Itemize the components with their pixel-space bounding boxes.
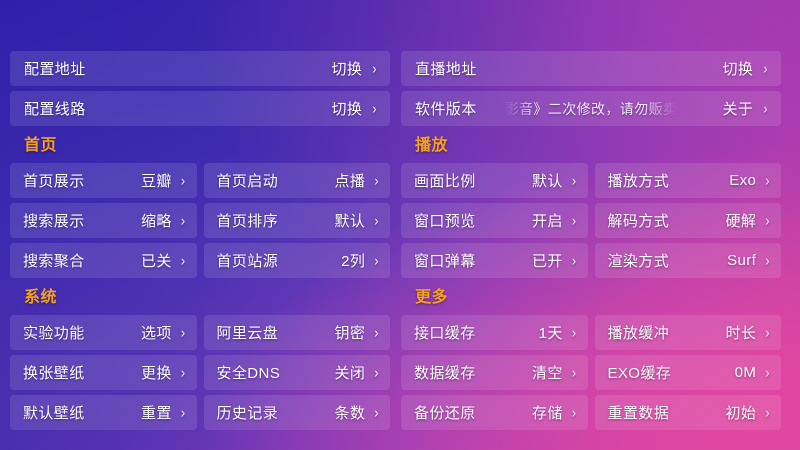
row-home-source[interactable]: 首页站源 2列 › [204,243,391,278]
row-value: 选项 [141,322,172,343]
row-label: 数据缓存 [414,362,476,383]
row-backup-restore[interactable]: 备份还原 存储 › [401,395,588,430]
row-label: 配置线路 [24,98,86,119]
right-column: 直播地址 切换 › 软件版本 影音》二次修改，请勿贩卖 关于 › 播放 画面比例… [401,51,781,430]
row-software-version[interactable]: 软件版本 影音》二次修改，请勿贩卖 关于 › [401,91,781,126]
row-label: 重置数据 [608,402,670,423]
row-reset-data[interactable]: 重置数据 初始 › [595,395,782,430]
row-label: 首页展示 [23,170,85,191]
row-experimental-features[interactable]: 实验功能 选项 › [10,315,197,350]
chevron-right-icon: › [763,101,768,116]
chevron-right-icon: › [572,253,577,268]
chevron-right-icon: › [765,213,770,228]
chevron-right-icon: › [181,213,186,228]
row-value: 0M [735,364,757,381]
row-value: 初始 [725,402,756,423]
row-value: 开启 [532,210,563,231]
row-value: 时长 [725,322,756,343]
row-label: 首页排序 [217,210,279,231]
chevron-right-icon: › [374,365,379,380]
row-label: 配置地址 [24,58,86,79]
chevron-right-icon: › [765,325,770,340]
row-label: 画面比例 [414,170,476,191]
chevron-right-icon: › [572,325,577,340]
row-value: 已关 [141,250,172,271]
row-home-sort[interactable]: 首页排序 默认 › [204,203,391,238]
row-label: 搜索聚合 [23,250,85,271]
row-aspect-ratio[interactable]: 画面比例 默认 › [401,163,588,198]
row-value: 条数 [334,402,365,423]
chevron-right-icon: › [765,173,770,188]
row-play-buffer[interactable]: 播放缓冲 时长 › [595,315,782,350]
row-change-wallpaper[interactable]: 换张壁纸 更换 › [10,355,197,390]
home-settings-grid: 首页展示 豆瓣 › 首页启动 点播 › 搜索展示 缩略 › [10,163,390,278]
row-player-type[interactable]: 播放方式 Exo › [595,163,782,198]
version-marquee-text: 影音》二次修改，请勿贩卖 [505,99,678,119]
chevron-right-icon: › [372,101,377,116]
row-label: 播放方式 [608,170,670,191]
row-label: 阿里云盘 [217,322,279,343]
row-value: 切换 [331,58,362,79]
left-column: 配置地址 切换 › 配置线路 切换 › 首页 首页展示 豆瓣 › [10,51,390,430]
row-label: 首页站源 [217,250,279,271]
row-label: 窗口弹幕 [414,250,476,271]
row-label: 备份还原 [414,402,476,423]
row-home-display[interactable]: 首页展示 豆瓣 › [10,163,197,198]
row-label: 实验功能 [23,322,85,343]
row-config-route[interactable]: 配置线路 切换 › [10,91,390,126]
row-label: 换张壁纸 [23,362,85,383]
row-search-aggregation[interactable]: 搜索聚合 已关 › [10,243,197,278]
row-label: 播放缓冲 [608,322,670,343]
row-label: 渲染方式 [608,250,670,271]
row-search-display[interactable]: 搜索展示 缩略 › [10,203,197,238]
row-history-records[interactable]: 历史记录 条数 › [204,395,391,430]
row-value: 豆瓣 [141,170,172,191]
chevron-right-icon: › [374,405,379,420]
section-header-playback: 播放 [401,131,781,158]
settings-columns: 配置地址 切换 › 配置线路 切换 › 首页 首页展示 豆瓣 › [10,0,790,430]
row-aliyun-drive[interactable]: 阿里云盘 钥密 › [204,315,391,350]
chevron-right-icon: › [181,365,186,380]
row-label: 搜索展示 [23,210,85,231]
row-value: 切换 [722,58,753,79]
row-data-cache[interactable]: 数据缓存 清空 › [401,355,588,390]
chevron-right-icon: › [765,405,770,420]
row-label: EXO缓存 [608,362,672,383]
row-window-danmaku[interactable]: 窗口弹幕 已开 › [401,243,588,278]
row-secure-dns[interactable]: 安全DNS 关闭 › [204,355,391,390]
row-value: 硬解 [725,210,756,231]
row-value: 默认 [334,210,365,231]
section-header-more: 更多 [401,283,781,310]
row-value: 默认 [532,170,563,191]
chevron-right-icon: › [572,213,577,228]
row-value: 切换 [331,98,362,119]
chevron-right-icon: › [572,173,577,188]
row-value: 更换 [141,362,172,383]
row-value: 重置 [141,402,172,423]
row-label: 历史记录 [217,402,279,423]
row-value: 清空 [532,362,563,383]
row-label: 窗口预览 [414,210,476,231]
chevron-right-icon: › [374,325,379,340]
row-label: 接口缓存 [414,322,476,343]
section-header-home: 首页 [10,131,390,158]
row-value: 关于 [722,98,753,119]
more-settings-grid: 接口缓存 1天 › 播放缓冲 时长 › 数据缓存 清空 › [401,315,781,430]
system-settings-grid: 实验功能 选项 › 阿里云盘 钥密 › 换张壁纸 更换 › [10,315,390,430]
row-label: 首页启动 [217,170,279,191]
row-label: 安全DNS [217,362,281,383]
row-render-mode[interactable]: 渲染方式 Surf › [595,243,782,278]
playback-settings-grid: 画面比例 默认 › 播放方式 Exo › 窗口预览 开启 › [401,163,781,278]
chevron-right-icon: › [572,405,577,420]
chevron-right-icon: › [765,365,770,380]
chevron-right-icon: › [374,253,379,268]
chevron-right-icon: › [763,61,768,76]
chevron-right-icon: › [181,253,186,268]
chevron-right-icon: › [181,325,186,340]
row-value: 钥密 [334,322,365,343]
row-live-address[interactable]: 直播地址 切换 › [401,51,781,86]
row-value: 点播 [334,170,365,191]
row-label: 默认壁纸 [23,402,85,423]
row-config-address[interactable]: 配置地址 切换 › [10,51,390,86]
chevron-right-icon: › [372,61,377,76]
chevron-right-icon: › [374,213,379,228]
row-value: 缩略 [141,210,172,231]
settings-page: 配置地址 切换 › 配置线路 切换 › 首页 首页展示 豆瓣 › [0,0,800,450]
row-value: 已开 [532,250,563,271]
row-decode-mode[interactable]: 解码方式 硬解 › [595,203,782,238]
row-exo-cache[interactable]: EXO缓存 0M › [595,355,782,390]
row-value: 关闭 [334,362,365,383]
row-value: 1天 [539,322,563,343]
chevron-right-icon: › [572,365,577,380]
row-value: 2列 [341,250,365,271]
row-home-startup[interactable]: 首页启动 点播 › [204,163,391,198]
chevron-right-icon: › [374,173,379,188]
row-value: 存储 [532,402,563,423]
chevron-right-icon: › [765,253,770,268]
row-default-wallpaper[interactable]: 默认壁纸 重置 › [10,395,197,430]
row-label: 直播地址 [415,58,477,79]
chevron-right-icon: › [181,173,186,188]
row-window-preview[interactable]: 窗口预览 开启 › [401,203,588,238]
section-header-system: 系统 [10,283,390,310]
row-label: 解码方式 [608,210,670,231]
chevron-right-icon: › [181,405,186,420]
row-label: 软件版本 [415,98,477,119]
row-api-cache[interactable]: 接口缓存 1天 › [401,315,588,350]
row-value: Surf [727,252,756,269]
row-value: Exo [729,172,756,189]
